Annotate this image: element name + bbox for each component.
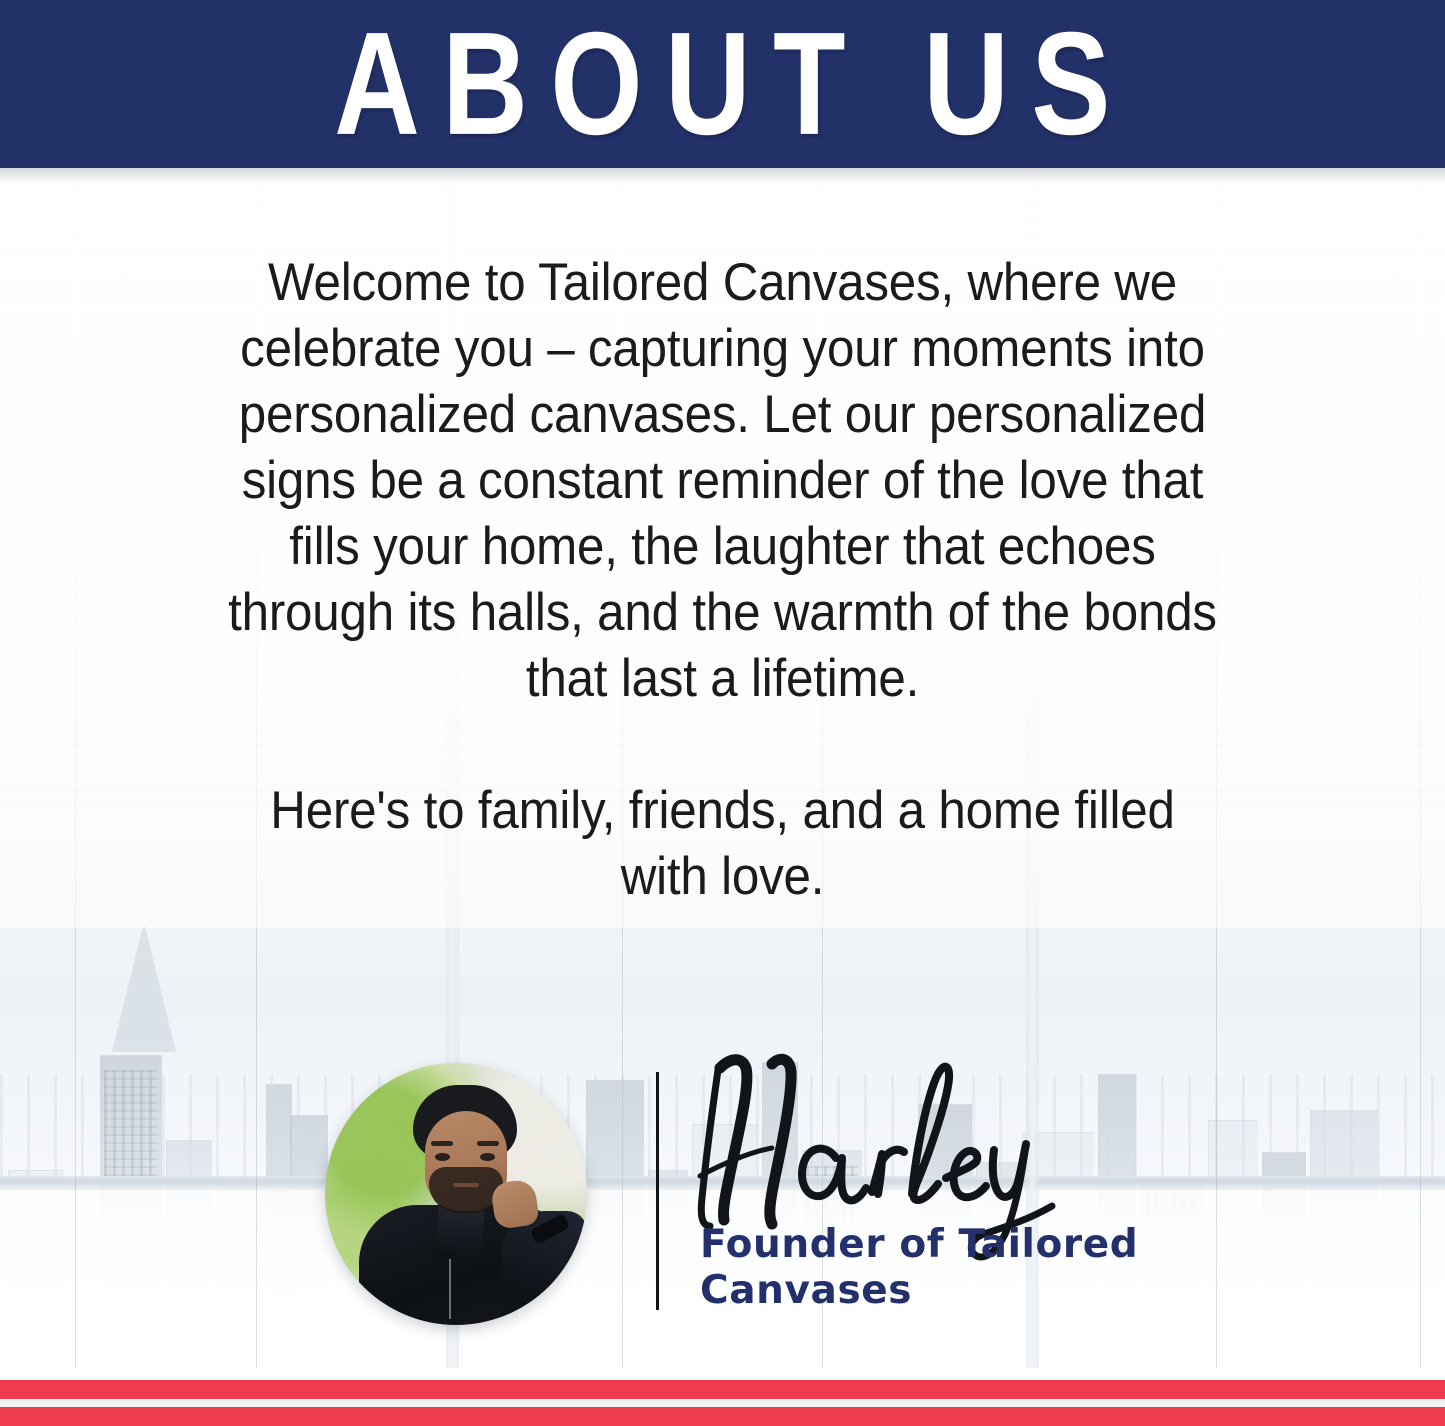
founder-role-line-1: Founder of Tailored <box>700 1222 1170 1268</box>
founder-role: Founder of Tailored Canvases <box>700 1222 1170 1314</box>
avatar-mouth <box>453 1183 479 1187</box>
avatar-eyebrow-left <box>431 1141 453 1146</box>
banner-drop-shadow <box>0 168 1445 184</box>
avatar-eye-left <box>435 1153 450 1161</box>
footer-red-bar-top <box>0 1380 1445 1399</box>
avatar <box>325 1063 587 1325</box>
avatar-necklace <box>449 1259 451 1319</box>
about-us-copy: Welcome to Tailored Canvases, where we c… <box>51 250 1395 910</box>
about-us-banner: ABOUT US <box>0 0 1445 168</box>
page-title: ABOUT US <box>312 11 1133 157</box>
signature-divider <box>656 1072 659 1310</box>
avatar-beard <box>429 1167 503 1213</box>
founder-role-line-2: Canvases <box>700 1268 1170 1314</box>
paragraph-spacer <box>51 712 1395 778</box>
avatar-eye-right <box>480 1153 495 1161</box>
avatar-eyebrow-right <box>477 1141 499 1146</box>
about-us-page: ABOUT US Welcome to Tailored Canvases, w… <box>0 0 1445 1426</box>
footer-red-bar-bottom <box>0 1407 1445 1426</box>
footer-bar-gap <box>0 1399 1445 1407</box>
paragraph-closing: Here's to family, friends, and a home fi… <box>220 778 1224 910</box>
paragraph-intro: Welcome to Tailored Canvases, where we c… <box>220 250 1224 712</box>
